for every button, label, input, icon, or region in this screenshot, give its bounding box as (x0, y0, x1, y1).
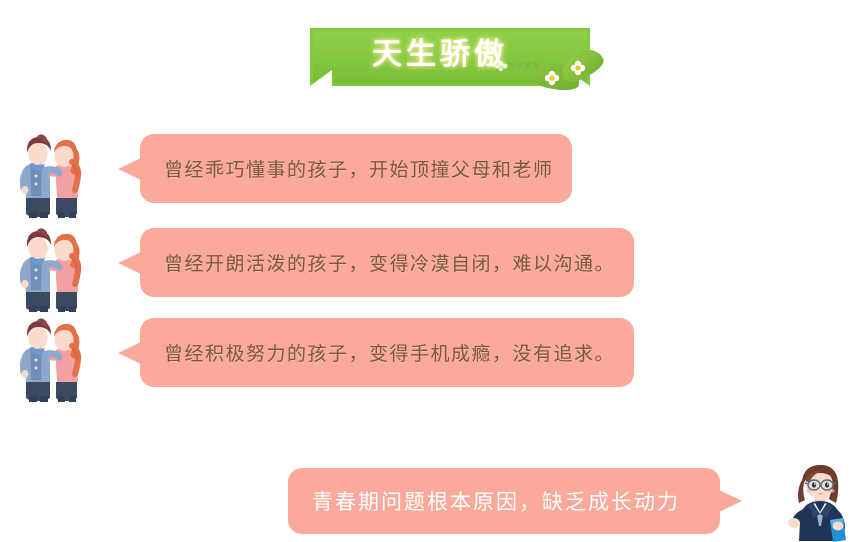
boy-and-girl-illustration (14, 312, 92, 404)
female-teacher-illustration (782, 462, 856, 542)
slide-canvas: 天生骄傲 深圳爱育 曾经乖巧懂事的孩子，开始顶撞父母和老师 曾经开朗活泼的孩子，… (0, 0, 860, 542)
page-title: 天生骄傲 (355, 37, 525, 73)
flower-icon (568, 58, 588, 78)
bubble-tail-left (118, 252, 141, 274)
bubble-tail-left (118, 342, 141, 364)
speech-bubble: 曾经开朗活泼的孩子，变得冷漠自闭，难以沟通。 (140, 228, 634, 297)
title-banner: 天生骄傲 深圳爱育 (310, 28, 610, 90)
conclusion-speech-bubble: 青春期问题根本原因，缺乏成长动力 (288, 468, 720, 534)
speech-bubble-text: 曾经乖巧懂事的孩子，开始顶撞父母和老师 (164, 155, 554, 182)
speech-bubble-text: 曾经开朗活泼的孩子，变得冷漠自闭，难以沟通。 (164, 249, 615, 276)
boy-and-girl-illustration (14, 128, 92, 220)
speech-bubble: 曾经积极努力的孩子，变得手机成瘾，没有追求。 (140, 318, 634, 387)
bubble-tail-left (118, 158, 141, 180)
conclusion-speech-bubble-text: 青春期问题根本原因，缺乏成长动力 (312, 486, 680, 516)
banner-watermark: 深圳爱育 (508, 61, 540, 71)
flower-icon (542, 68, 562, 88)
bubble-tail-right (719, 490, 742, 512)
boy-and-girl-illustration (14, 222, 92, 314)
speech-bubble-text: 曾经积极努力的孩子，变得手机成瘾，没有追求。 (164, 339, 615, 366)
speech-bubble: 曾经乖巧懂事的孩子，开始顶撞父母和老师 (140, 134, 572, 203)
